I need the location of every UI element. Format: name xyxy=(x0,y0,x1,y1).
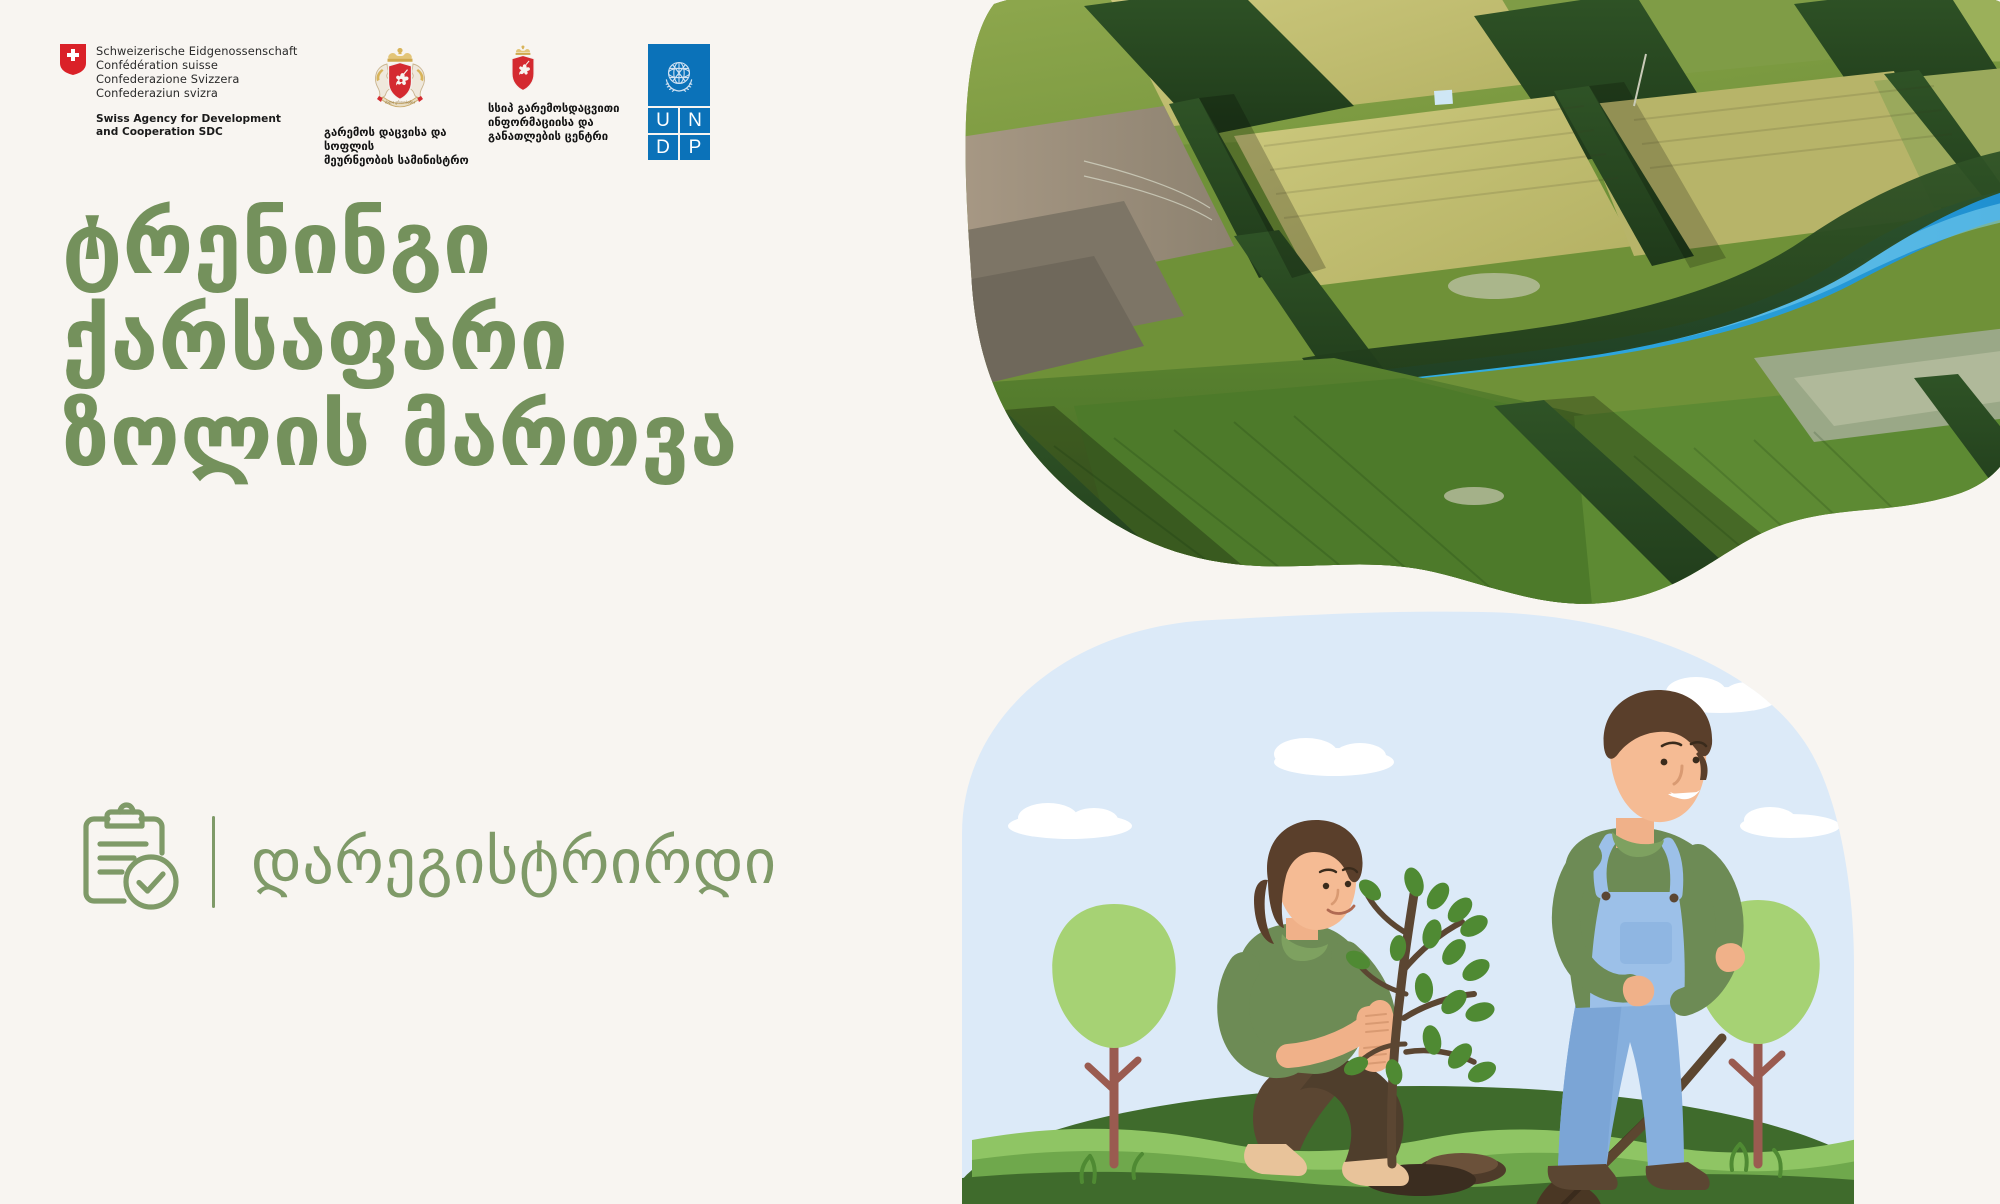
clipboard-check-icon xyxy=(68,800,188,924)
swiss-confederation-logo: Schweizerische Eidgenossenschaft Confédé… xyxy=(60,44,320,138)
register-cta[interactable]: დარეგისტრირდი xyxy=(68,800,777,924)
undp-letter-d: D xyxy=(648,135,678,160)
eiec-caption-line-3: განათლების ცენტრი xyxy=(488,130,619,144)
svg-text:ძალა ერთობაშია: ძალა ერთობაშია xyxy=(385,101,415,105)
environmental-information-education-centre-logo: სსიპ გარემოსდაცვითი ინფორმაციისა და განა… xyxy=(488,44,630,143)
swiss-logo-text: Schweizerische Eidgenossenschaft Confédé… xyxy=(96,44,298,100)
undp-letter-p: P xyxy=(680,135,710,160)
undp-letter-n: N xyxy=(680,108,710,133)
swiss-line-fr: Confédération suisse xyxy=(96,58,298,72)
banner-root: Schweizerische Eidgenossenschaft Confédé… xyxy=(0,0,2000,1200)
swiss-cross-shield-icon xyxy=(60,44,86,79)
swiss-line-de: Schweizerische Eidgenossenschaft xyxy=(96,44,298,58)
ministry-caption-line-2: მეურნეობის სამინისტრო xyxy=(324,154,476,168)
united-nations-emblem-icon xyxy=(648,44,710,106)
swiss-agency-line-2: and Cooperation SDC xyxy=(96,126,320,138)
swiss-line-it: Confederazione Svizzera xyxy=(96,72,298,86)
donor-logo-row: Schweizerische Eidgenossenschaft Confédé… xyxy=(60,44,710,167)
swiss-agency-line-1: Swiss Agency for Development xyxy=(96,113,320,125)
aerial-farmland-photo xyxy=(934,0,2000,626)
register-divider xyxy=(212,816,215,908)
eiec-caption-line-2: ინფორმაციისა და xyxy=(488,116,619,130)
tree-planting-illustration xyxy=(962,604,1882,1204)
eiec-caption: სსიპ გარემოსდაცვითი ინფორმაციისა და განა… xyxy=(488,102,619,143)
ministry-caption: გარემოს დაცვისა და სოფლის მეურნეობის სამ… xyxy=(324,126,476,167)
georgia-coat-of-arms-icon: ძალა ერთობაშია xyxy=(357,44,443,118)
undp-logo: U N D P xyxy=(648,44,710,156)
swiss-line-rm: Confederaziun svizra xyxy=(96,86,298,100)
undp-letter-u: U xyxy=(648,108,678,133)
title-line-3: ზოლის მართვა xyxy=(62,388,962,484)
ministry-caption-line-1: გარემოს დაცვისა და სოფლის xyxy=(324,126,476,154)
georgia-small-coat-of-arms-icon xyxy=(488,75,540,94)
register-label[interactable]: დარეგისტრირდი xyxy=(251,827,777,897)
swiss-agency-text: Swiss Agency for Development and Coopera… xyxy=(96,113,320,138)
georgia-ministry-logo: ძალა ერთობაშია გარემოს დაცვისა და სოფლის… xyxy=(324,44,476,167)
title-line-2: ქარსაფარი xyxy=(62,292,962,388)
eiec-caption-line-1: სსიპ გარემოსდაცვითი xyxy=(488,102,619,116)
page-title: ტრენინგი ქარსაფარი ზოლის მართვა xyxy=(62,196,962,484)
title-line-1: ტრენინგი xyxy=(62,196,962,292)
